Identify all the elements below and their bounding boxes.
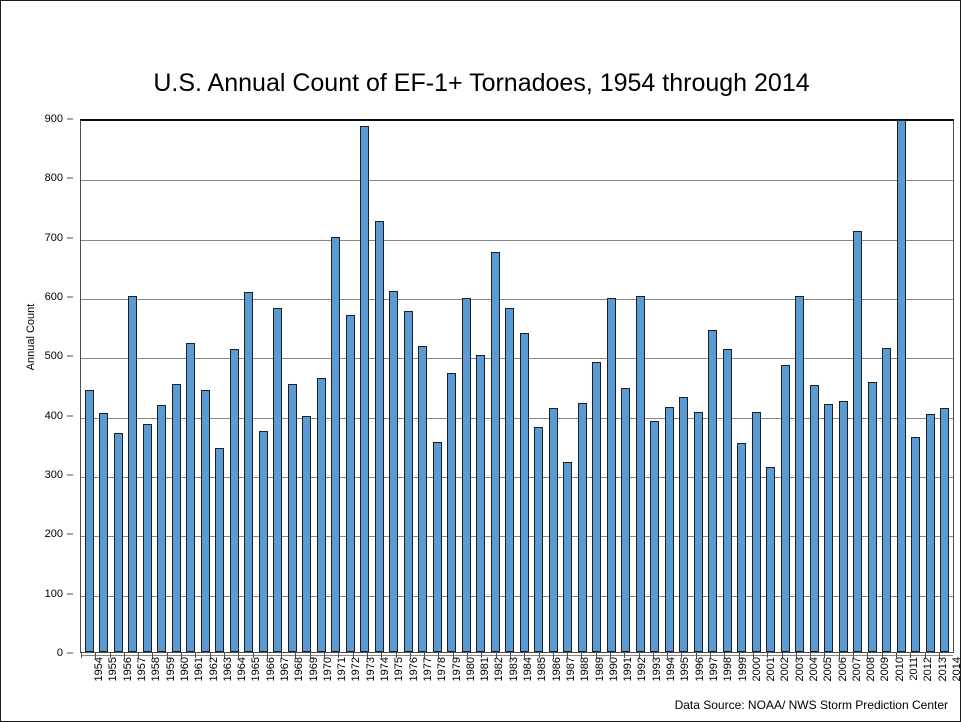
x-label-slot: 1994 xyxy=(653,654,667,700)
bar[interactable] xyxy=(172,384,181,652)
bar-slot xyxy=(865,121,880,652)
y-axis-tick-mark xyxy=(67,593,73,594)
x-label-slot: 1970 xyxy=(310,654,324,700)
bar-slot xyxy=(372,121,387,652)
x-label-slot: 1954 xyxy=(81,654,95,700)
bar[interactable] xyxy=(534,427,543,652)
x-label-slot: 1964 xyxy=(224,654,238,700)
bar-slot xyxy=(97,121,112,652)
x-label-slot: 1992 xyxy=(624,654,638,700)
x-label-slot: 1962 xyxy=(195,654,209,700)
bar[interactable] xyxy=(418,346,427,652)
bar-slot xyxy=(909,121,924,652)
y-axis-tick-mark xyxy=(67,297,73,298)
bar[interactable] xyxy=(288,384,297,652)
x-label-slot: 1990 xyxy=(596,654,610,700)
bar-slot xyxy=(358,121,373,652)
bar[interactable] xyxy=(694,412,703,652)
bar-slot xyxy=(517,121,532,652)
bar[interactable] xyxy=(302,416,311,652)
bar-slot xyxy=(764,121,779,652)
x-label-slot: 2002 xyxy=(767,654,781,700)
bar[interactable] xyxy=(433,442,442,652)
x-label-slot: 1982 xyxy=(481,654,495,700)
bar[interactable] xyxy=(143,424,152,652)
bar-slot xyxy=(285,121,300,652)
x-label-slot: 1974 xyxy=(367,654,381,700)
bar-slot xyxy=(575,121,590,652)
x-label-slot: 1965 xyxy=(238,654,252,700)
x-label-slot: 1978 xyxy=(424,654,438,700)
chart-title: U.S. Annual Count of EF-1+ Tornadoes, 19… xyxy=(1,69,961,98)
x-label-slot: 1991 xyxy=(610,654,624,700)
x-label-slot: 1967 xyxy=(267,654,281,700)
bar-slot xyxy=(793,121,808,652)
bar-slot xyxy=(169,121,184,652)
bar-slot xyxy=(503,121,518,652)
bar[interactable] xyxy=(723,349,732,652)
x-label-slot: 2009 xyxy=(867,654,881,700)
x-label-slot: 1980 xyxy=(453,654,467,700)
y-axis-tick-mark xyxy=(67,415,73,416)
bar-slot xyxy=(938,121,953,652)
bar-slot xyxy=(227,121,242,652)
bar[interactable] xyxy=(346,315,355,652)
bar[interactable] xyxy=(737,443,746,652)
bar[interactable] xyxy=(447,373,456,652)
bar[interactable] xyxy=(607,298,616,652)
x-label-slot: 1998 xyxy=(710,654,724,700)
x-label-slot: 2006 xyxy=(824,654,838,700)
bar[interactable] xyxy=(911,437,920,652)
bar[interactable] xyxy=(230,349,239,652)
x-label-slot: 2010 xyxy=(882,654,896,700)
bar[interactable] xyxy=(868,382,877,652)
x-label-slot: 2008 xyxy=(853,654,867,700)
bar[interactable] xyxy=(99,413,108,652)
x-label-slot: 1985 xyxy=(524,654,538,700)
bar-slot xyxy=(155,121,170,652)
bar[interactable] xyxy=(563,462,572,652)
bar[interactable] xyxy=(157,405,166,652)
x-label-slot: 1959 xyxy=(152,654,166,700)
y-axis-tick-label: 500 xyxy=(45,350,63,362)
y-axis-tick-label: 600 xyxy=(45,291,63,303)
chart-page: U.S. Annual Count of EF-1+ Tornadoes, 19… xyxy=(0,0,961,722)
x-label-slot: 2014 xyxy=(939,654,953,700)
bar[interactable] xyxy=(621,388,630,652)
bar-slot xyxy=(242,121,257,652)
bar[interactable] xyxy=(404,311,413,652)
bar-slot xyxy=(300,121,315,652)
x-label-slot: 1955 xyxy=(95,654,109,700)
bar-slot xyxy=(561,121,576,652)
bar-slot xyxy=(807,121,822,652)
bar[interactable] xyxy=(665,407,674,652)
bar[interactable] xyxy=(882,348,891,652)
y-axis-tick-label: 900 xyxy=(45,113,63,125)
x-label-slot: 1976 xyxy=(396,654,410,700)
x-label-slot: 1957 xyxy=(124,654,138,700)
y-axis-tick-label: 100 xyxy=(45,588,63,600)
bar-slot xyxy=(619,121,634,652)
bar[interactable] xyxy=(824,404,833,652)
bar-slot xyxy=(923,121,938,652)
bar-slot xyxy=(416,121,431,652)
x-label-slot: 1963 xyxy=(210,654,224,700)
bar[interactable] xyxy=(389,291,398,652)
x-label-slot: 1997 xyxy=(696,654,710,700)
bar[interactable] xyxy=(114,433,123,652)
bar[interactable] xyxy=(317,378,326,652)
bar[interactable] xyxy=(259,431,268,652)
bar[interactable] xyxy=(128,296,137,652)
y-axis-tick-mark xyxy=(67,237,73,238)
x-label-slot: 1983 xyxy=(496,654,510,700)
x-label-slot: 2012 xyxy=(910,654,924,700)
bar-slot xyxy=(184,121,199,652)
bar-slot xyxy=(329,121,344,652)
bar[interactable] xyxy=(636,296,645,652)
y-axis-tick-label: 200 xyxy=(45,528,63,540)
bar-slot xyxy=(677,121,692,652)
x-label-slot: 1999 xyxy=(724,654,738,700)
bar[interactable] xyxy=(331,237,340,652)
x-label-slot: 1987 xyxy=(553,654,567,700)
bar-slot xyxy=(648,121,663,652)
x-label-slot: 1958 xyxy=(138,654,152,700)
x-label-slot: 2005 xyxy=(810,654,824,700)
bar[interactable] xyxy=(215,448,224,652)
bar-slot xyxy=(706,121,721,652)
bar-slot xyxy=(474,121,489,652)
y-axis-tick-label: 300 xyxy=(45,469,63,481)
bar-slot xyxy=(126,121,141,652)
x-label-slot: 1984 xyxy=(510,654,524,700)
bar-slot xyxy=(314,121,329,652)
x-label-slot: 1986 xyxy=(539,654,553,700)
x-label-slot: 2013 xyxy=(925,654,939,700)
y-axis-tick-label: 800 xyxy=(45,172,63,184)
bar-slot xyxy=(546,121,561,652)
bar-slot xyxy=(894,121,909,652)
y-axis-tick-label: 0 xyxy=(57,647,63,659)
x-label-slot: 1961 xyxy=(181,654,195,700)
bar[interactable] xyxy=(853,231,862,652)
bar-slot xyxy=(140,121,155,652)
plot-area xyxy=(80,119,954,653)
bar-slot xyxy=(459,121,474,652)
x-label-slot: 2003 xyxy=(782,654,796,700)
bar[interactable] xyxy=(940,408,949,652)
x-label-slot: 1975 xyxy=(381,654,395,700)
bar[interactable] xyxy=(650,421,659,652)
bar[interactable] xyxy=(476,355,485,652)
y-axis-tick-mark xyxy=(67,534,73,535)
bar[interactable] xyxy=(592,362,601,652)
bar-slot xyxy=(851,121,866,652)
bar-slot xyxy=(488,121,503,652)
bar[interactable] xyxy=(795,296,804,652)
x-label-slot: 1956 xyxy=(110,654,124,700)
x-label-slot: 1969 xyxy=(295,654,309,700)
bar-slot xyxy=(822,121,837,652)
source-note: Data Source: NOAA/ NWS Storm Prediction … xyxy=(675,698,948,712)
bar[interactable] xyxy=(781,365,790,652)
bar[interactable] xyxy=(201,390,210,652)
bar[interactable] xyxy=(839,401,848,652)
bar-slot xyxy=(778,121,793,652)
x-label-slot: 1977 xyxy=(410,654,424,700)
bar-series xyxy=(81,121,953,652)
y-axis-tick-label: 400 xyxy=(45,410,63,422)
bar-slot xyxy=(749,121,764,652)
bar-slot xyxy=(662,121,677,652)
x-label-slot: 2000 xyxy=(739,654,753,700)
bar-slot xyxy=(271,121,286,652)
bar[interactable] xyxy=(273,308,282,652)
x-label-slot: 1979 xyxy=(438,654,452,700)
bar[interactable] xyxy=(766,467,775,652)
bar-slot xyxy=(532,121,547,652)
y-axis-tick-mark xyxy=(67,475,73,476)
bar[interactable] xyxy=(85,390,94,652)
x-label-slot: 1996 xyxy=(681,654,695,700)
bar-slot xyxy=(445,121,460,652)
x-label-slot: 1966 xyxy=(253,654,267,700)
x-label-slot: 1960 xyxy=(167,654,181,700)
y-axis-tick-mark xyxy=(67,119,73,120)
bar[interactable] xyxy=(462,298,471,652)
x-label-slot: 1988 xyxy=(567,654,581,700)
bar[interactable] xyxy=(708,330,717,652)
bar-slot xyxy=(111,121,126,652)
bar[interactable] xyxy=(244,292,253,652)
bar-slot xyxy=(880,121,895,652)
y-axis-tick-mark xyxy=(67,178,73,179)
bar[interactable] xyxy=(520,333,529,652)
bar-slot xyxy=(633,121,648,652)
bar-slot xyxy=(198,121,213,652)
bar[interactable] xyxy=(752,412,761,652)
bar-slot xyxy=(590,121,605,652)
x-label-slot: 1981 xyxy=(467,654,481,700)
bar[interactable] xyxy=(897,120,906,652)
x-label-slot: 2007 xyxy=(839,654,853,700)
bar[interactable] xyxy=(375,221,384,652)
x-label-slot: 1989 xyxy=(581,654,595,700)
x-axis-tick-labels: 1954195519561957195819591960196119621963… xyxy=(80,654,954,700)
y-axis-tick-labels: 0100200300400500600700800900 xyxy=(1,119,73,653)
x-label-slot: 1993 xyxy=(639,654,653,700)
x-label-slot: 1968 xyxy=(281,654,295,700)
bar-slot xyxy=(82,121,97,652)
bar-slot xyxy=(430,121,445,652)
bar-slot xyxy=(691,121,706,652)
y-axis-tick-label: 700 xyxy=(45,232,63,244)
bar-slot xyxy=(213,121,228,652)
bar-slot xyxy=(401,121,416,652)
bar-slot xyxy=(735,121,750,652)
bar[interactable] xyxy=(549,408,558,652)
x-label-slot: 1972 xyxy=(338,654,352,700)
bar[interactable] xyxy=(810,385,819,652)
bar-slot xyxy=(720,121,735,652)
bar[interactable] xyxy=(360,126,369,652)
x-label-slot: 1973 xyxy=(353,654,367,700)
y-axis-tick-mark xyxy=(67,356,73,357)
bar[interactable] xyxy=(186,343,195,652)
bar-slot xyxy=(343,121,358,652)
bar[interactable] xyxy=(679,397,688,652)
x-label-slot: 2001 xyxy=(753,654,767,700)
bar-slot xyxy=(256,121,271,652)
x-label-slot: 2004 xyxy=(796,654,810,700)
bar[interactable] xyxy=(505,308,514,652)
bar[interactable] xyxy=(578,403,587,652)
bar[interactable] xyxy=(926,414,935,652)
bar[interactable] xyxy=(491,252,500,652)
bar-slot xyxy=(604,121,619,652)
y-axis-tick-mark xyxy=(67,653,73,654)
x-label-slot: 1995 xyxy=(667,654,681,700)
x-label-slot: 1971 xyxy=(324,654,338,700)
x-label-slot: 2011 xyxy=(896,654,910,700)
bar-slot xyxy=(836,121,851,652)
bar-slot xyxy=(387,121,402,652)
x-axis-tick-label: 2014 xyxy=(951,657,961,681)
